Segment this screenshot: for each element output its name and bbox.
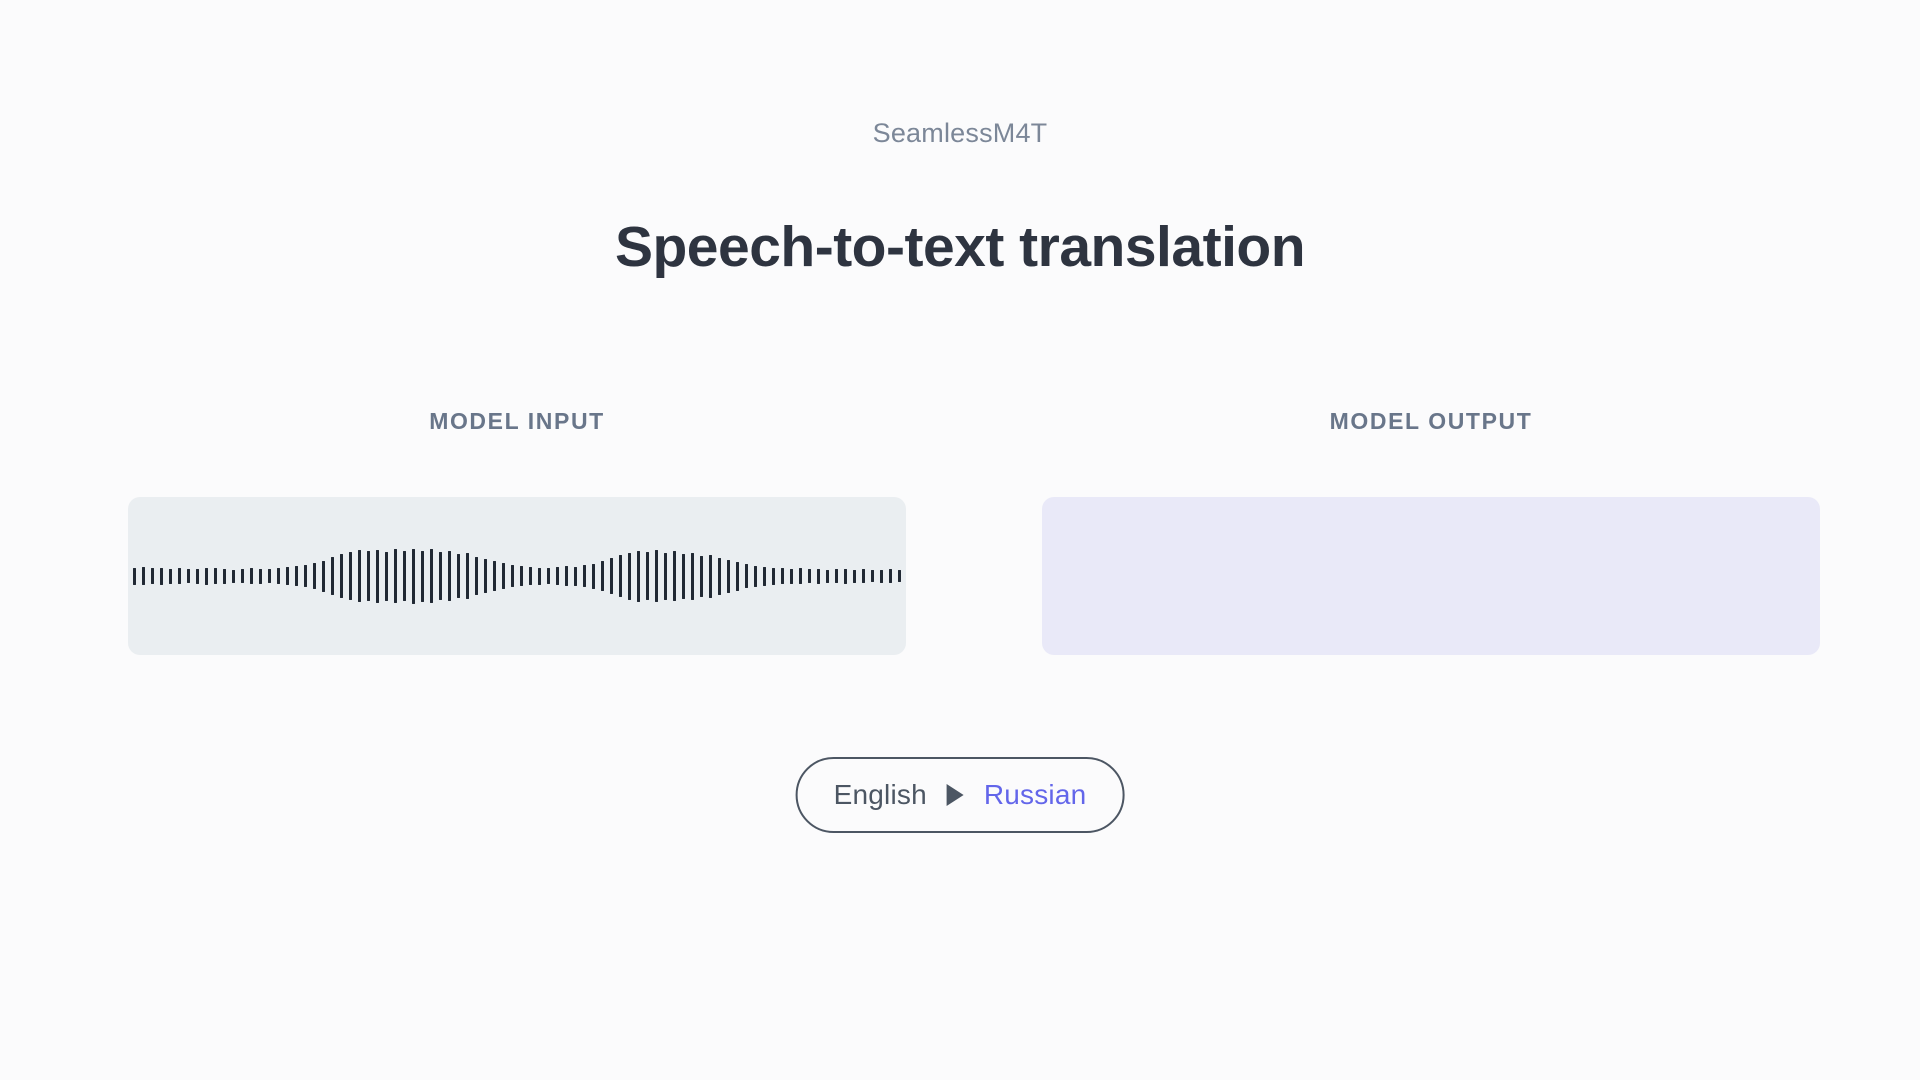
- waveform-bar: [682, 554, 685, 599]
- page-title: Speech-to-text translation: [0, 216, 1920, 279]
- waveform-bar: [745, 564, 748, 588]
- waveform-bar: [331, 557, 334, 595]
- waveform-bar: [133, 568, 136, 585]
- waveform-bar: [547, 568, 550, 584]
- waveform-bar: [691, 553, 694, 600]
- waveform-bar: [880, 570, 883, 583]
- waveform-bar: [187, 569, 190, 583]
- waveform-bar: [511, 565, 514, 587]
- waveform-bar: [430, 549, 433, 603]
- waveform-bar: [529, 567, 532, 585]
- waveform-bar: [808, 569, 811, 583]
- waveform-bar: [376, 550, 379, 603]
- waveform-bar: [421, 551, 424, 602]
- waveform-bar: [718, 558, 721, 595]
- waveform-bar: [781, 568, 784, 584]
- waveform-bar: [259, 569, 262, 584]
- waveform-bar: [322, 561, 325, 592]
- waveform-bar: [268, 569, 271, 583]
- app-root: SeamlessM4T Speech-to-text translation M…: [0, 0, 1920, 1080]
- target-language-label[interactable]: Russian: [984, 779, 1087, 811]
- waveform-bar: [610, 558, 613, 594]
- waveform-bar: [241, 569, 244, 583]
- app-brand: SeamlessM4T: [0, 118, 1920, 149]
- waveform-bar: [493, 561, 496, 591]
- waveform-bar: [295, 566, 298, 586]
- panels-container: MODEL INPUT MODEL OUTPUT: [0, 410, 1920, 670]
- waveform-bar: [439, 552, 442, 600]
- waveform-bar: [583, 565, 586, 587]
- waveform-bar: [772, 568, 775, 585]
- waveform-bar: [700, 556, 703, 597]
- waveform-bar: [151, 568, 154, 584]
- model-output-box[interactable]: [1042, 497, 1820, 655]
- waveform-bar: [196, 569, 199, 584]
- waveform-bar: [574, 567, 577, 586]
- model-output-panel: MODEL OUTPUT: [1042, 410, 1820, 433]
- waveform-bar: [673, 551, 676, 601]
- waveform-bar: [628, 553, 631, 600]
- waveform-bar: [664, 553, 667, 600]
- waveform-bar: [394, 549, 397, 603]
- waveform-bar: [412, 549, 415, 604]
- waveform-bar: [349, 552, 352, 600]
- waveform-bar: [601, 561, 604, 591]
- waveform-bar: [520, 566, 523, 586]
- waveform-bar: [709, 555, 712, 598]
- waveform-bar: [250, 568, 253, 584]
- waveform-bar: [862, 569, 865, 583]
- model-input-box[interactable]: [128, 497, 906, 655]
- model-input-panel: MODEL INPUT: [128, 410, 906, 433]
- waveform-bar: [592, 564, 595, 589]
- waveform-bar: [799, 568, 802, 584]
- waveform-bar: [403, 551, 406, 601]
- waveform-bar: [736, 562, 739, 591]
- waveform-bar: [898, 570, 901, 582]
- waveform-bar: [844, 569, 847, 584]
- waveform-bar: [637, 551, 640, 602]
- model-output-label: MODEL OUTPUT: [1042, 410, 1820, 433]
- waveform-bar: [277, 568, 280, 584]
- waveform-bar: [754, 566, 757, 587]
- waveform-bar: [232, 570, 235, 583]
- language-pair-selector[interactable]: English Russian: [796, 757, 1125, 833]
- waveform-bar: [448, 551, 451, 601]
- waveform-bar: [646, 552, 649, 600]
- waveform-bar: [358, 550, 361, 602]
- waveform-bar: [619, 555, 622, 597]
- waveform-bar: [889, 569, 892, 583]
- waveform-bar: [565, 566, 568, 586]
- waveform-bar: [727, 560, 730, 593]
- waveform-bar: [304, 565, 307, 587]
- waveform-bar: [871, 570, 874, 582]
- play-triangle-icon: [947, 784, 964, 806]
- audio-waveform[interactable]: [128, 497, 906, 655]
- waveform-bar: [142, 567, 145, 585]
- waveform-bar: [835, 569, 838, 583]
- waveform-bar: [466, 553, 469, 599]
- waveform-bar: [457, 554, 460, 598]
- waveform-bar: [205, 568, 208, 585]
- source-language-label[interactable]: English: [834, 779, 927, 811]
- waveform-bar: [286, 567, 289, 585]
- waveform-bar: [169, 569, 172, 584]
- waveform-bar: [385, 552, 388, 601]
- waveform-bar: [538, 568, 541, 585]
- waveform-bar: [178, 568, 181, 584]
- waveform-bar: [502, 563, 505, 589]
- waveform-bar: [655, 550, 658, 602]
- waveform-bar: [556, 567, 559, 585]
- waveform-bar: [367, 551, 370, 601]
- waveform-bar: [763, 567, 766, 586]
- waveform-bar: [484, 559, 487, 593]
- waveform-bar: [817, 569, 820, 584]
- waveform-bar: [826, 570, 829, 583]
- waveform-bar: [160, 568, 163, 585]
- model-input-label: MODEL INPUT: [128, 410, 906, 433]
- waveform-bar: [853, 570, 856, 583]
- waveform-bar: [223, 569, 226, 584]
- waveform-bar: [340, 554, 343, 598]
- waveform-bar: [475, 557, 478, 595]
- waveform-bar: [313, 563, 316, 589]
- waveform-bar: [790, 569, 793, 584]
- waveform-bar: [214, 568, 217, 584]
